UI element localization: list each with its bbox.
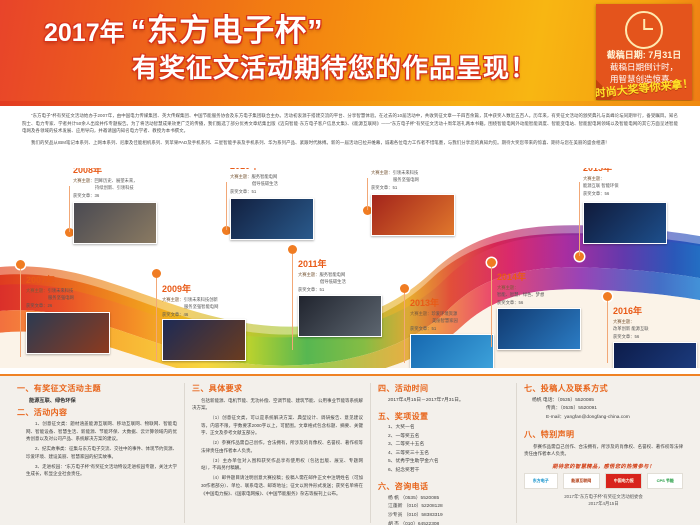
section-2-item-3: 3、走进校园：“东方电子杯”有奖征文活动特设走进校园专题，关注大学生成长，彰显企…: [17, 463, 177, 478]
badge-deadline-text: 截稿日期: 7月31日: [596, 48, 692, 61]
timeline-theme-line1: 服务智能电网: [251, 174, 277, 179]
timeline-year: 2015年: [583, 168, 700, 174]
prize-item: 6、纪念奖若干: [378, 467, 509, 476]
section-2-heading: 二、活动内容: [17, 407, 177, 418]
contact-tel: （010）52208128: [404, 504, 443, 509]
section-4-time: 2017年4月15日－2017年7月31日。: [378, 397, 509, 405]
intro-paragraph-2: 我们的奖品从IBM笔记本系列、上网本系列、尼康及佳能相机系列、到苹果PAD及手机…: [22, 139, 678, 147]
timeline-photo[interactable]: [230, 198, 314, 240]
footer-signature: 2017年“东方电子杯”有奖征文活动组委会 2017年4月15日: [524, 493, 683, 507]
timeline-theme-line1: 引领未来科技: [47, 288, 73, 293]
timeline-theme: 大赛主题： 智能、智慧、绿色、梦想: [497, 285, 617, 298]
badge-subtext-line1: 截稿日期倒计时，: [596, 61, 692, 73]
timeline-count-value: 51: [251, 189, 256, 194]
rules-column-3: 四、活动时间 2017年4月15日－2017年7月31日。 五、奖项设置 1、大…: [370, 383, 516, 523]
timeline-theme: 大赛主题： 能源互联 智能环保: [583, 176, 700, 189]
section-5-heading: 五、奖项设置: [378, 411, 509, 422]
rules-column-2: 三、具体要求 包括新能源、电机节能、无功补偿、空调节能、建筑节能、公用事业节能等…: [184, 383, 370, 523]
prize-item: 1、大奖一名: [378, 424, 509, 433]
rules-panel: 一、有奖征文活动主题 能源互联、绿色环保 二、活动内容 1、创意征文类：题材涵盖…: [0, 374, 700, 525]
timeline-stem: [292, 254, 293, 350]
timeline-count: 获奖文章：36: [73, 193, 193, 199]
prize-item: 2、一等奖五名: [378, 433, 509, 442]
contact-tel: （0535）5520085: [400, 496, 439, 501]
timeline-theme-line2: 服务坚强智能电网: [162, 304, 282, 311]
intro-paragraph-1: “东方电子”杯有奖征文活动始办于2007年，由中国电力传媒集团、英大传媒集团、中…: [22, 112, 678, 135]
timeline-stem: [69, 186, 70, 232]
logo-china-power-news[interactable]: 中国电力报: [605, 473, 642, 489]
timeline-year: 2008年: [73, 168, 193, 176]
timeline-theme-label: 大赛主题：: [230, 174, 251, 179]
timeline-photo[interactable]: [371, 194, 455, 236]
timeline-dot: [16, 260, 25, 269]
timeline-count-value: 51: [319, 287, 324, 292]
timeline-count-value: 56: [518, 300, 523, 305]
submission-row[interactable]: E-mail：yangfan@dongfang-china.com: [524, 414, 683, 423]
timeline-stem: [404, 293, 405, 363]
timeline-dot: [400, 284, 409, 293]
contact-row: 沙专员 （010）58383319: [378, 512, 509, 521]
prize-item: 3、二等奖十五名: [378, 441, 509, 450]
history-timeline: 2007年 大赛主题：引领未来科技 服务坚强电网 获奖文章：26 2008年 大…: [0, 168, 700, 368]
timeline-year: 2010年: [230, 168, 350, 172]
timeline-photo[interactable]: [162, 319, 246, 361]
timeline-photo[interactable]: [497, 308, 581, 350]
title-main: “东方电子杯”: [131, 13, 324, 48]
timeline-count-label: 获奖文章：: [26, 303, 47, 308]
timeline-count-label: 获奖文章：: [613, 334, 634, 339]
timeline-theme-label: 大赛主题：: [410, 311, 431, 316]
rules-column-1: 一、有奖征文活动主题 能源互联、绿色环保 二、活动内容 1、创意征文类：题材涵盖…: [10, 383, 184, 523]
deadline-badge: 截稿日期: 7月31日 截稿日期倒计时， 用智慧创造惊喜。 时尚大奖等你来拿！: [596, 4, 692, 100]
timeline-theme: 大赛主题：服务智能电网 倡导低碳生活: [298, 272, 418, 285]
timeline-dot: [152, 269, 161, 278]
timeline-photo[interactable]: [26, 312, 110, 354]
timeline-photo[interactable]: [613, 342, 697, 368]
contact-row: 江蓬新 （010）52208128: [378, 503, 509, 512]
submission-value: （0535）5520091: [560, 406, 597, 411]
footer-organizer: 2017年“东方电子杯”有奖征文活动组委会: [524, 493, 683, 500]
submission-label: 杨帆 电话：: [532, 398, 557, 403]
sponsor-logos: 东方电子 能源互联网 中国电力报 CPS 节能: [524, 473, 683, 489]
email-value[interactable]: yangfan@dongfang-china.com: [564, 415, 629, 420]
footer-date: 2017年4月15日: [524, 500, 683, 507]
footer-slogan: 期待您的智慧精品，感悟您的热情参与！: [524, 463, 683, 470]
section-8-heading: 八、特别声明: [524, 429, 683, 440]
section-3-item-1: （1）创意征文类，可以是系统解决方案、典型设计、调研报告、意见建议等，内容不限，…: [192, 414, 363, 437]
timeline-year: 2016年: [613, 307, 700, 317]
contact-name: 江蓬新: [388, 504, 402, 509]
logo-cpsc[interactable]: CPS 节能: [647, 473, 683, 489]
timeline-stem: [226, 182, 227, 230]
timeline-dot: [487, 258, 496, 267]
timeline-theme-label: 大赛主题：: [371, 170, 392, 175]
rules-column-4: 七、投稿人及联系方式 杨帆 电话：（0535）5520085 传真：（0535）…: [516, 383, 690, 523]
timeline-count-label: 获奖文章：: [73, 193, 94, 198]
timeline-photo[interactable]: [583, 202, 667, 244]
section-3-lead: 包括新能源、电机节能、无功补偿、空调节能、建筑节能、公用事业节能等系统解决方案。: [192, 397, 363, 412]
section-7-heading: 七、投稿人及联系方式: [524, 383, 683, 394]
timeline-stem: [491, 267, 492, 347]
timeline-dot: [603, 292, 612, 301]
timeline-count-value: 51: [392, 185, 397, 190]
timeline-year: 2014年: [497, 273, 617, 283]
page-title: 2017年“东方电子杯” 有奖征文活动期待您的作品呈现！: [44, 14, 584, 83]
timeline-theme-line2: 持续创新、引领科技: [73, 185, 193, 192]
timeline-count-label: 获奖文章：: [230, 189, 251, 194]
timeline-theme: 大赛主题：服务智能电网 倡导低碳生活: [230, 174, 350, 187]
timeline-theme: 大赛主题：回眸历史、展望未来， 持续创新、引领科技: [73, 178, 193, 191]
section-3-item-4: （4）邮件题目请注明创意大赛投稿；投稿人需在邮件正文中注明姓名（可加30作者部分…: [192, 474, 363, 497]
timeline-theme: 大赛主题： 改革创新 能源互联: [613, 319, 700, 332]
timeline-theme-line1: 服务智能电网: [319, 272, 345, 277]
timeline-count-label: 获奖文章：: [497, 300, 518, 305]
timeline-stem: [367, 178, 368, 210]
section-8-text: 参赛作品需自己创作、合法拥有，所涉及的肖像权、名誉权、著作权等法律责任由作者本人…: [524, 443, 683, 458]
timeline-stem: [579, 182, 580, 256]
timeline-theme-label: 大赛主题：: [583, 176, 604, 181]
timeline-theme-label: 大赛主题：: [162, 297, 183, 302]
logo-energy-internet[interactable]: 能源互联网: [563, 473, 600, 489]
timeline-theme-line1: 引领未来科技创新: [183, 297, 217, 302]
timeline-count-label: 获奖文章：: [162, 312, 183, 317]
timeline-theme-line1: 能源互联 智能环保: [583, 183, 700, 190]
contact-row: 杨 帆 （0535）5520085: [378, 495, 509, 504]
timeline-photo[interactable]: [410, 334, 494, 368]
timeline-count: 获奖文章：26: [26, 303, 146, 309]
logo-dongfang-electronics[interactable]: 东方电子: [524, 473, 558, 489]
timeline-count-value: 26: [47, 303, 52, 308]
section-3-item-2: （2）参赛作品需自己创作，合法拥有，所涉及的肖像权、名誉权、著作权等法律责任由作…: [192, 439, 363, 454]
section-3-heading: 三、具体要求: [192, 383, 363, 394]
timeline-stem: [156, 278, 157, 360]
timeline-count-value: 56: [604, 191, 609, 196]
timeline-count-value: 56: [634, 334, 639, 339]
timeline-theme-label: 大赛主题：: [298, 272, 319, 277]
submission-value: （0535）5520085: [557, 398, 594, 403]
section-1-theme: 能源互联、绿色环保: [17, 397, 177, 404]
timeline-theme-line1: 引领未来科技: [392, 170, 418, 175]
section-2-item-1: 1、创意征文类：题材涵盖能源互联网、移动互联网、物联网、智能电网、智能设备、智慧…: [17, 420, 177, 443]
timeline-count: 获奖文章：56: [497, 300, 617, 306]
timeline-count-value: 51: [431, 326, 436, 331]
timeline-dot: [288, 245, 297, 254]
timeline-stem: [607, 301, 608, 363]
timeline-theme-label: 大赛主题：: [497, 285, 518, 290]
timeline-theme-label: 大赛主题：: [26, 288, 47, 293]
section-6-heading: 六、咨询电话: [378, 481, 509, 492]
timeline-theme-line1: 智能、智慧、绿色、梦想: [497, 292, 617, 299]
timeline-stem: [20, 269, 21, 357]
clock-icon: [625, 11, 663, 49]
section-3-item-3: （3）主办单位对入围和获奖作品享有使用权（包括出版、展览、专题网站），不再另付稿…: [192, 457, 363, 472]
timeline-photo[interactable]: [73, 202, 157, 244]
timeline-theme: 大赛主题：引领未来科技创新 服务坚强智能电网: [162, 297, 282, 310]
timeline-year: 2011年: [298, 260, 418, 270]
timeline-count-label: 获奖文章：: [298, 287, 319, 292]
timeline-theme-line1: 回眸历史、展望未来，: [94, 178, 137, 183]
timeline-theme-line1: 珍爱环境资源: [431, 311, 457, 316]
title-year: 2017年: [44, 19, 125, 47]
title-subtitle: 有奖征文活动期待您的作品呈现！: [132, 54, 584, 82]
timeline-theme-line2: 倡导低碳生活: [298, 279, 418, 286]
timeline-photo[interactable]: [298, 295, 382, 337]
contact-row: 胡 杰 （010）64522308: [378, 521, 509, 525]
timeline-count: 获奖文章：51: [230, 189, 350, 195]
timeline-theme-line2: 服务坚强电网: [26, 295, 146, 302]
timeline-theme-label: 大赛主题：: [613, 319, 634, 324]
prize-item: 5、优秀学生助学金六名: [378, 458, 509, 467]
timeline-count-label: 获奖文章：: [371, 185, 392, 190]
submission-label: E-mail：: [546, 415, 564, 420]
submission-row: 传真：（0535）5520091: [524, 405, 683, 414]
timeline-count: 获奖文章：56: [613, 334, 700, 340]
timeline-theme: 大赛主题：引领未来科技 服务坚强电网: [371, 170, 491, 183]
section-1-heading: 一、有奖征文活动主题: [17, 383, 177, 394]
timeline-theme-label: 大赛主题：: [73, 178, 94, 183]
timeline-year: 2009年: [162, 285, 282, 295]
submission-label: 传真：: [546, 406, 560, 411]
contact-name: 杨 帆: [388, 496, 399, 501]
timeline-theme-line2: 倡导低碳生活: [230, 181, 350, 188]
timeline-count-value: 36: [94, 193, 99, 198]
footer-logos-area: 期待您的智慧精品，感悟您的热情参与！ 东方电子 能源互联网 中国电力报 CPS …: [524, 463, 683, 507]
timeline-theme-line2: 服务坚强电网: [371, 177, 491, 184]
prize-item: 4、三等奖三十五名: [378, 450, 509, 459]
submission-row: 杨帆 电话：（0535）5520085: [524, 397, 683, 406]
contact-tel: （010）58383319: [404, 513, 443, 518]
timeline-count: 获奖文章：56: [583, 191, 700, 197]
contact-name: 沙专员: [388, 513, 402, 518]
timeline-year: 2007年: [26, 276, 146, 286]
section-4-heading: 四、活动时间: [378, 383, 509, 394]
section-2-item-2: 2、纪实故事类：征集与东方电子交流、交往中的事件、体现节约资源、珍爱环境、建设美…: [17, 445, 177, 460]
poster-root: 2017年“东方电子杯” 有奖征文活动期待您的作品呈现！ 截稿日期: 7月31日…: [0, 0, 700, 525]
timeline-count: 获奖文章：46: [162, 312, 282, 318]
timeline-theme-line1: 改革创新 能源互联: [613, 326, 700, 333]
timeline-count: 获奖文章：51: [371, 185, 491, 191]
timeline-theme: 大赛主题：引领未来科技 服务坚强电网: [26, 288, 146, 301]
timeline-count-value: 46: [183, 312, 188, 317]
poster-header: 2017年“东方电子杯” 有奖征文活动期待您的作品呈现！ 截稿日期: 7月31日…: [0, 0, 700, 106]
timeline-count-label: 获奖文章：: [583, 191, 604, 196]
timeline-count-label: 获奖文章：: [410, 326, 431, 331]
intro-text: “东方电子”杯有奖征文活动始办于2007年，由中国电力传媒集团、英大传媒集团、中…: [0, 112, 700, 170]
